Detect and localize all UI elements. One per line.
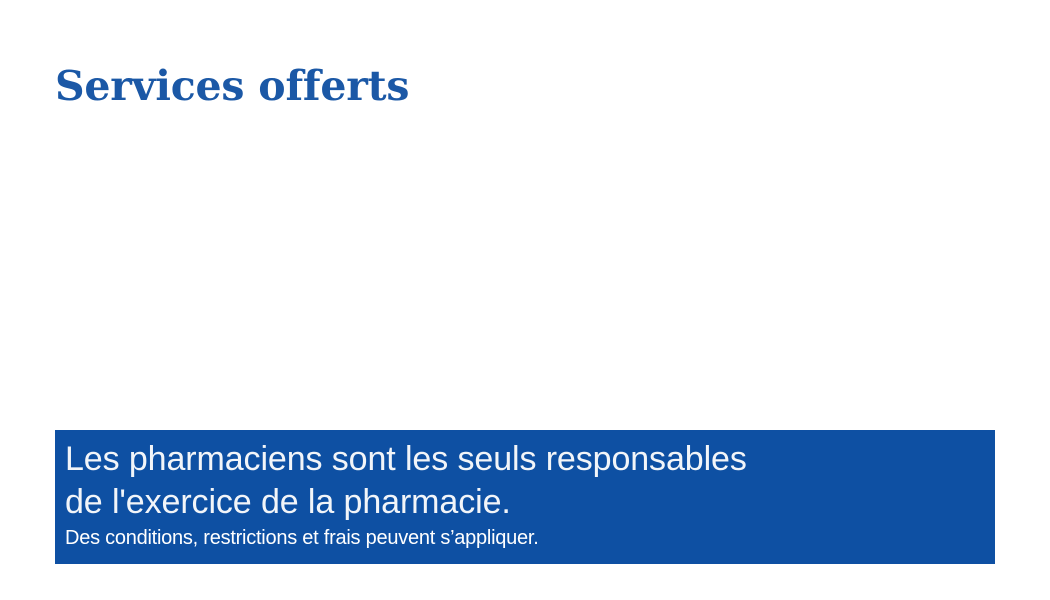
page-title: Services offerts (55, 62, 409, 110)
slide-canvas: Services offerts Les pharmaciens sont le… (0, 0, 1050, 600)
notice-headline: Les pharmaciens sont les seuls responsab… (65, 438, 983, 524)
notice-subline: Des conditions, restrictions et frais pe… (65, 526, 983, 551)
slide-content-area (55, 130, 995, 425)
notice-headline-line-1: Les pharmaciens sont les seuls responsab… (65, 438, 983, 481)
notice-banner: Les pharmaciens sont les seuls responsab… (55, 430, 995, 564)
notice-headline-line-2: de l'exercice de la pharmacie. (65, 481, 983, 524)
